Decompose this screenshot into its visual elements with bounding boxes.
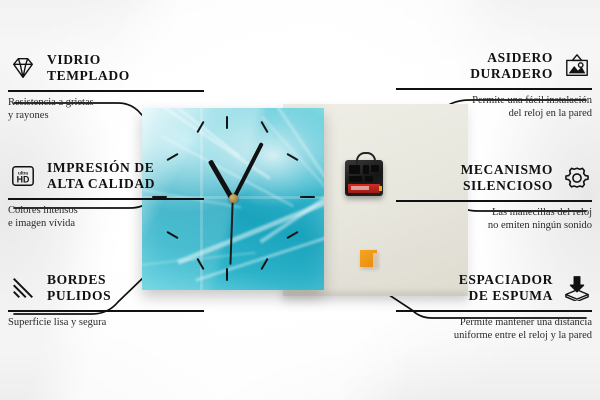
- feature-divider: [396, 200, 592, 202]
- battery: [348, 184, 380, 193]
- feature-title-line1: MECANISMO: [461, 162, 553, 178]
- hour-marker: [300, 196, 315, 198]
- feature-description: Las manecillas del reloj no emiten ningú…: [396, 206, 592, 234]
- feature-title: ESPACIADOR DE ESPUMA: [459, 272, 553, 305]
- feature-title: BORDES PULIDOS: [47, 272, 111, 305]
- feature-desc-line2: del reloj en la pared: [396, 107, 592, 121]
- feature-desc-line1: Permite una fácil instalación: [396, 94, 592, 108]
- feature-title: IMPRESIÓN DE ALTA CALIDAD: [47, 160, 155, 193]
- feature-desc-line2: uniforme entre el reloj y la pared: [396, 329, 592, 343]
- feature-divider: [8, 198, 204, 200]
- feature-mecanismo-silencioso: MECANISMO SILENCIOSO Las manecillas del …: [396, 162, 592, 233]
- feature-title-line2: DURADERO: [470, 66, 553, 82]
- feature-divider: [8, 310, 204, 312]
- feature-espaciador-de-espuma: ESPACIADOR DE ESPUMA Permite mantener un…: [396, 272, 592, 343]
- feature-bordes-pulidos: BORDES PULIDOS Superficie lisa y segura: [8, 272, 204, 329]
- feature-title-line1: ASIDERO: [470, 50, 553, 66]
- feature-title-line2: PULIDOS: [47, 288, 111, 304]
- feature-title-line2: ALTA CALIDAD: [47, 176, 155, 192]
- feature-desc-line1: Superficie lisa y segura: [8, 316, 204, 330]
- ultra-hd-icon: ultra HD: [8, 163, 38, 189]
- feature-title-line1: ESPACIADOR: [459, 272, 553, 288]
- foam-spacer: [360, 250, 377, 267]
- feature-vidrio-templado: VIDRIO TEMPLADO Resistencia a grietas y …: [8, 52, 204, 123]
- feature-divider: [396, 88, 592, 90]
- feature-impresion-alta-calidad: ultra HD IMPRESIÓN DE ALTA CALIDAD Color…: [8, 160, 204, 231]
- hour-marker: [226, 116, 228, 129]
- feature-title: ASIDERO DURADERO: [470, 50, 553, 83]
- feature-title-line2: DE ESPUMA: [459, 288, 553, 304]
- feature-divider: [396, 310, 592, 312]
- foam-spacer-arrow-icon: [562, 275, 592, 301]
- feature-asidero-duradero: ASIDERO DURADERO Permite una fácil insta…: [396, 50, 592, 121]
- feature-title-line2: TEMPLADO: [47, 68, 130, 84]
- diamond-icon: [8, 55, 38, 81]
- feature-title-line1: BORDES: [47, 272, 111, 288]
- framed-picture-hanger-icon: [562, 53, 592, 79]
- feature-divider: [8, 90, 204, 92]
- feature-desc-line1: Colores intensos: [8, 204, 204, 218]
- clock-mechanism: [345, 160, 383, 196]
- ultra-hd-icon-large-text: HD: [17, 175, 30, 185]
- hour-marker: [226, 268, 228, 281]
- feature-description: Resistencia a grietas y rayones: [8, 96, 204, 124]
- feature-desc-line1: Permite mantener una distancia: [396, 316, 592, 330]
- feature-title: MECANISMO SILENCIOSO: [461, 162, 553, 195]
- feature-description: Superficie lisa y segura: [8, 316, 204, 330]
- polished-edges-icon: [8, 275, 38, 301]
- infographic-canvas: VIDRIO TEMPLADO Resistencia a grietas y …: [0, 0, 600, 400]
- feature-title-line1: VIDRIO: [47, 52, 130, 68]
- feature-title-line1: IMPRESIÓN DE: [47, 160, 155, 176]
- feature-desc-line1: Las manecillas del reloj: [396, 206, 592, 220]
- feature-desc-line2: no emiten ningún sonido: [396, 219, 592, 233]
- feature-description: Colores intensos e imagen vívida: [8, 204, 204, 232]
- feature-desc-line2: y rayones: [8, 109, 204, 123]
- feature-description: Permite una fácil instalación del reloj …: [396, 94, 592, 122]
- hour-marker: [286, 231, 298, 239]
- feature-title: VIDRIO TEMPLADO: [47, 52, 130, 85]
- feature-desc-line2: e imagen vívida: [8, 217, 204, 231]
- clock-center-cap: [229, 194, 238, 203]
- gear-icon: [562, 165, 592, 191]
- feature-desc-line1: Resistencia a grietas: [8, 96, 204, 110]
- feature-description: Permite mantener una distancia uniforme …: [396, 316, 592, 344]
- feature-title-line2: SILENCIOSO: [461, 178, 553, 194]
